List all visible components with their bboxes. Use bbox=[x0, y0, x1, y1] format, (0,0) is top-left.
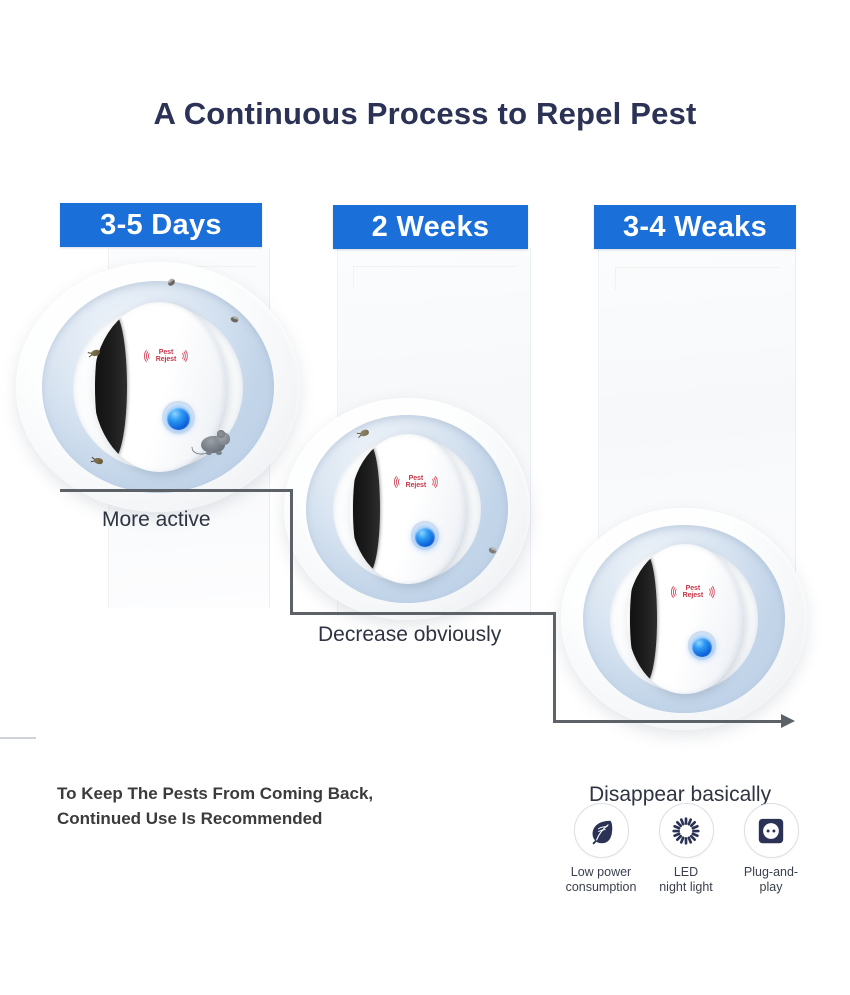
pest-reject-logo: Pest Rejest bbox=[397, 474, 435, 490]
stage-caption-1: More active bbox=[102, 508, 211, 532]
sound-wave-right-icon bbox=[176, 348, 185, 364]
pest-reject-logo: Pest Rejest bbox=[147, 348, 185, 364]
feature-plug-and-play: Plug-and-play bbox=[737, 803, 805, 895]
sunburst-icon bbox=[671, 816, 701, 846]
repeller-device-stage-3: Pest Rejest bbox=[561, 508, 807, 730]
note-line-1: To Keep The Pests From Coming Back, bbox=[57, 782, 373, 807]
repeller-device-stage-1: Pest Rejest bbox=[16, 262, 300, 512]
stage-badge-2: 2 Weeks bbox=[333, 205, 528, 249]
repeller-device-stage-2: Pest Rejest bbox=[284, 398, 530, 620]
page-title: A Continuous Process to Repel Pest bbox=[0, 96, 850, 132]
device-body: Pest Rejest bbox=[350, 434, 466, 585]
stage-badge-label-2: 2 Weeks bbox=[372, 211, 490, 244]
feature-low-power: Low power consumption bbox=[567, 803, 635, 895]
feature-icon-wrap bbox=[744, 803, 799, 858]
left-edge-rule bbox=[0, 737, 36, 739]
feature-label: LED night light bbox=[659, 865, 713, 895]
connector-segment-2 bbox=[290, 489, 293, 614]
device-speaker-slot bbox=[95, 314, 127, 460]
feature-led-night-light: LED night light bbox=[652, 803, 720, 895]
logo-line-1: Pest bbox=[686, 585, 700, 592]
device-speaker-slot bbox=[630, 554, 658, 684]
feature-label: Plug-and-play bbox=[737, 865, 805, 895]
connector-segment-1 bbox=[60, 489, 292, 492]
device-body: Pest Rejest bbox=[627, 544, 743, 695]
stage-badge-label-1: 3-5 Days bbox=[100, 209, 222, 242]
stage-caption-2: Decrease obviously bbox=[318, 623, 501, 647]
device-speaker-slot bbox=[353, 444, 381, 574]
led-indicator bbox=[692, 637, 712, 657]
connector-segment-5 bbox=[553, 720, 783, 723]
sound-wave-left-icon bbox=[397, 474, 406, 490]
connector-segment-4 bbox=[553, 612, 556, 722]
pest-reject-logo: Pest Rejest bbox=[674, 584, 712, 600]
feature-icon-wrap bbox=[659, 803, 714, 858]
continued-use-note: To Keep The Pests From Coming Back, Cont… bbox=[57, 782, 373, 831]
stage-badge-label-3: 3-4 Weaks bbox=[623, 211, 767, 244]
power-outlet-icon bbox=[756, 816, 786, 846]
feature-icon-wrap bbox=[574, 803, 629, 858]
sound-wave-left-icon bbox=[674, 584, 683, 600]
leaf-icon bbox=[586, 816, 616, 846]
feature-label: Low power consumption bbox=[566, 865, 637, 895]
connector-segment-3 bbox=[290, 612, 555, 615]
infographic-canvas: A Continuous Process to Repel Pest 3-5 D… bbox=[0, 0, 850, 995]
logo-line-1: Pest bbox=[159, 349, 173, 356]
note-line-2: Continued Use Is Recommended bbox=[57, 807, 373, 832]
pest-mouse bbox=[199, 430, 233, 456]
feature-list: Low power consumption bbox=[567, 803, 805, 895]
logo-line-1: Pest bbox=[409, 475, 423, 482]
stage-badge-1: 3-5 Days bbox=[60, 203, 262, 247]
connector-arrow-icon bbox=[781, 714, 795, 728]
sound-wave-right-icon bbox=[426, 474, 435, 490]
stage-badge-3: 3-4 Weaks bbox=[594, 205, 796, 249]
sound-wave-left-icon bbox=[147, 348, 156, 364]
sound-wave-right-icon bbox=[703, 584, 712, 600]
led-indicator bbox=[415, 527, 435, 547]
